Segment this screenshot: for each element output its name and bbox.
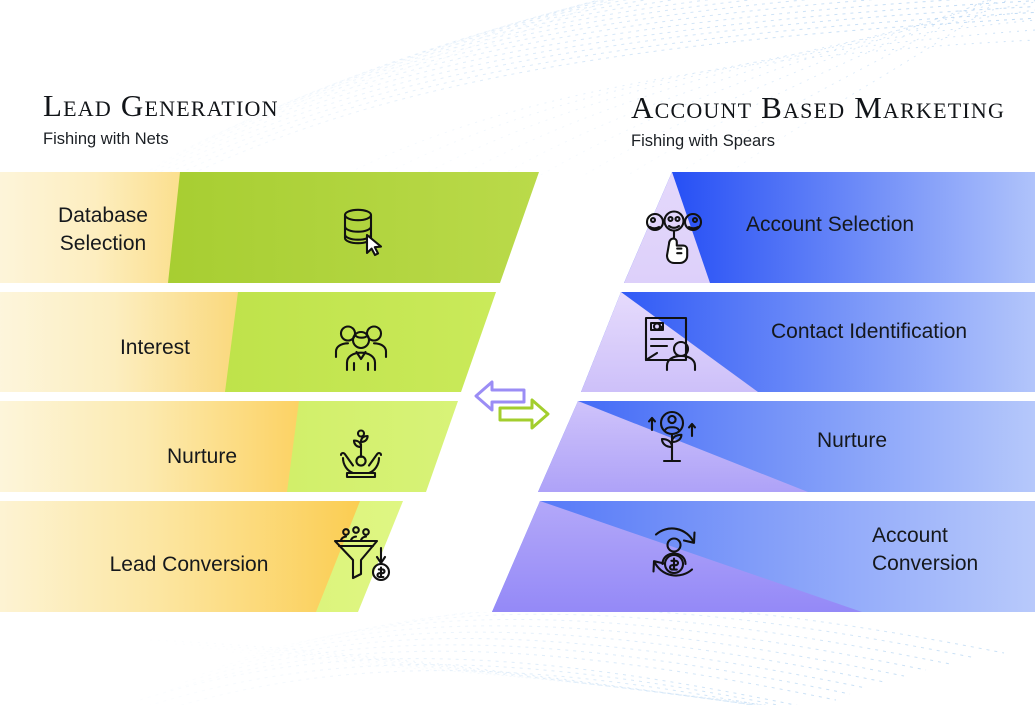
arrow-right-icon [500,400,548,428]
infographic-canvas: Lead Generation Fishing with Nets Accoun… [0,0,1035,705]
left-row-2-shape [0,292,496,392]
people-group-icon [329,318,393,382]
left-row-1-shape [0,172,539,283]
right-row-4-shape [492,501,1035,612]
conversion-dollar-cycle-icon [642,520,706,584]
database-cursor-icon [329,200,393,264]
account-selection-icon [642,204,706,268]
right-row-3-shape [538,401,1035,492]
arrow-left-icon [476,382,524,410]
exchange-arrows [466,372,558,436]
funnel-dollar-icon [331,520,395,584]
contact-id-card-icon [637,312,701,376]
person-plant-growth-icon [640,406,704,470]
hands-plant-icon [329,425,393,489]
funnel-pyramid-diagram [0,0,1035,705]
